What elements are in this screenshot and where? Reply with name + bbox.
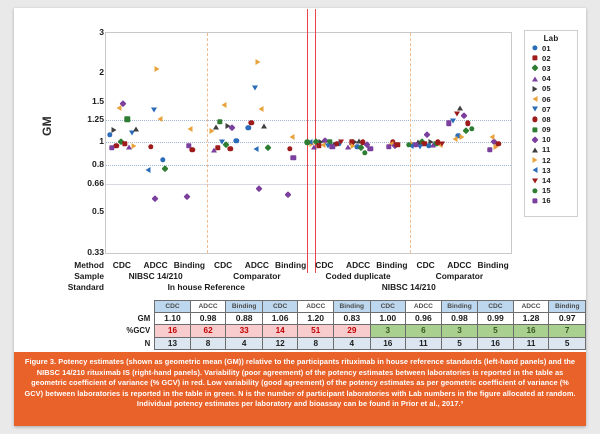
diamond-marker-icon <box>529 135 542 145</box>
panel-divider-dashed <box>207 33 208 253</box>
legend-item-10[interactable]: 10 <box>525 135 577 145</box>
figure-caption: Figure 3. Potency estimates (shown as ge… <box>14 352 586 426</box>
table-cell-gm: 0.88 <box>226 312 262 325</box>
data-point-lab-10 <box>424 132 429 137</box>
table-cell-gm: 0.96 <box>406 312 442 325</box>
data-point-lab-10 <box>152 196 157 201</box>
data-point-lab-10 <box>257 186 262 191</box>
data-point-lab-02 <box>394 142 399 147</box>
legend-label: 16 <box>542 196 551 205</box>
data-point-lab-16 <box>291 155 296 160</box>
table-cell-n: 16 <box>370 337 405 350</box>
data-point-lab-12 <box>460 134 465 140</box>
legend-label: 11 <box>542 145 550 154</box>
data-point-lab-01 <box>160 157 165 162</box>
legend-label: 01 <box>542 44 551 53</box>
legend-label: 04 <box>542 74 551 83</box>
table-cell-n: 8 <box>190 337 226 350</box>
tri-up-marker-icon <box>529 145 542 155</box>
x-group-label: Coded duplicate <box>318 271 398 281</box>
summary-table: CDCADCCBindingCDCADCCBindingCDCADCCBindi… <box>107 300 586 350</box>
chart-figure: GM 321.51.2510.80.660.50.33 Lab 01020304… <box>14 8 586 348</box>
table-row-label: N <box>107 337 155 350</box>
legend-rows: 01020304050607080910111213141516 <box>525 43 577 206</box>
table-col-header: ADCC <box>513 301 549 313</box>
table-cell-n: 11 <box>406 337 442 350</box>
y-tick-label: 0.33 <box>60 247 104 257</box>
x-group-label: Binding <box>453 260 533 270</box>
data-point-lab-01 <box>245 125 250 130</box>
data-point-lab-16 <box>446 121 451 126</box>
table-row: %GCV1662331451293635167 <box>107 325 586 338</box>
legend-label: 08 <box>542 115 551 124</box>
table-cell-gcv: 3 <box>441 325 477 338</box>
legend-item-14[interactable]: 14 <box>525 175 577 185</box>
data-point-lab-15 <box>469 126 474 131</box>
data-point-lab-10 <box>461 114 466 119</box>
data-point-lab-03 <box>163 166 168 171</box>
circle-marker-icon <box>529 43 542 53</box>
legend-label: 09 <box>542 125 551 134</box>
table-col-header: Binding <box>334 301 370 313</box>
table-cell-n: 11 <box>513 337 549 350</box>
data-point-lab-06 <box>490 134 495 140</box>
data-point-lab-08 <box>227 146 232 151</box>
figure-screenshot: GM 321.51.2510.80.660.50.33 Lab 01020304… <box>0 0 600 434</box>
table-cell-gcv: 16 <box>155 325 190 338</box>
table-row-label: %GCV <box>107 325 155 338</box>
data-point-lab-03 <box>265 145 270 150</box>
data-point-lab-04 <box>211 147 217 152</box>
data-point-lab-16 <box>413 142 418 147</box>
legend-item-11[interactable]: 11 <box>525 145 577 155</box>
data-point-lab-08 <box>190 147 195 152</box>
table-cell-n: 8 <box>298 337 334 350</box>
table-cell-gcv: 29 <box>334 325 370 338</box>
table-cell-gm: 1.28 <box>513 312 549 325</box>
y-tick-label: 0.8 <box>60 159 104 169</box>
table-col-header: Binding <box>226 301 262 313</box>
table-cell-n: 4 <box>334 337 370 350</box>
table-col-header: CDC <box>262 301 297 313</box>
legend-item-13[interactable]: 13 <box>525 165 577 175</box>
data-point-lab-10 <box>285 192 290 197</box>
legend-label: 02 <box>542 54 551 63</box>
y-tick-label: 1.5 <box>60 96 104 106</box>
table-cell-gcv: 16 <box>513 325 549 338</box>
table-cell-gcv: 3 <box>370 325 405 338</box>
data-point-lab-10 <box>184 194 189 199</box>
table-col-header: Binding <box>549 301 586 313</box>
table-col-header: CDC <box>478 301 513 313</box>
table-cell-gcv: 62 <box>190 325 226 338</box>
legend-item-06[interactable]: 06 <box>525 94 577 104</box>
data-point-lab-12 <box>209 128 214 134</box>
square-marker-icon <box>529 125 542 135</box>
table-cell-n: 5 <box>549 337 586 350</box>
legend-label: 07 <box>542 105 551 114</box>
legend-label: 14 <box>542 176 551 185</box>
tri-down-marker-icon <box>529 104 542 114</box>
tri-left-marker-icon <box>529 94 542 104</box>
table-col-header: ADCC <box>406 301 442 313</box>
y-axis-title: GM <box>40 116 54 136</box>
legend-item-12[interactable]: 12 <box>525 155 577 165</box>
data-point-lab-16 <box>368 146 373 151</box>
legend-item-02[interactable]: 02 <box>525 53 577 63</box>
data-point-lab-12 <box>351 143 356 149</box>
data-point-lab-13 <box>254 146 259 152</box>
table-cell-gcv: 5 <box>478 325 513 338</box>
table-col-header: ADCC <box>190 301 226 313</box>
legend-item-07[interactable]: 07 <box>525 104 577 114</box>
data-point-lab-01 <box>107 132 112 137</box>
table-cell-gcv: 7 <box>549 325 586 338</box>
table-cell-gcv: 33 <box>226 325 262 338</box>
data-point-lab-06 <box>157 116 162 122</box>
legend-item-05[interactable]: 05 <box>525 84 577 94</box>
data-point-lab-10 <box>230 125 235 130</box>
circle-marker-icon <box>529 114 542 124</box>
legend-label: 06 <box>542 95 551 104</box>
data-point-lab-06 <box>259 106 264 112</box>
table-cell-gm: 0.98 <box>190 312 226 325</box>
legend-item-09[interactable]: 09 <box>525 125 577 135</box>
diamond-marker-icon <box>529 63 542 73</box>
x-group-label: NIBSC 14/210 <box>116 271 196 281</box>
table-cell-n: 16 <box>478 337 513 350</box>
y-axis-ticks: 321.51.2510.80.660.50.33 <box>54 8 104 268</box>
data-point-lab-06 <box>452 136 457 142</box>
data-point-lab-11 <box>261 124 267 129</box>
tri-down-marker-icon <box>529 176 542 186</box>
data-point-lab-12 <box>154 66 159 72</box>
data-point-lab-14 <box>454 112 460 117</box>
tri-right-marker-icon <box>529 84 542 94</box>
data-point-lab-09 <box>124 117 129 122</box>
table-cell-gm: 1.20 <box>298 312 334 325</box>
square-marker-icon <box>529 53 542 63</box>
stats-table: CDCADCCBindingCDCADCCBindingCDCADCCBindi… <box>107 300 586 350</box>
legend-title: Lab <box>525 34 577 43</box>
legend-item-08[interactable]: 08 <box>525 114 577 124</box>
data-point-lab-16 <box>109 145 114 150</box>
x-row-name: Standard <box>48 282 104 292</box>
tri-left-marker-icon <box>529 165 542 175</box>
data-point-lab-12 <box>255 59 260 65</box>
table-cell-gm: 1.10 <box>155 312 190 325</box>
table-row: N138412841611516115 <box>107 337 586 350</box>
x-group-label: NIBSC 14/210 <box>369 282 449 292</box>
legend-label: 05 <box>542 84 551 93</box>
y-tick-label: 3 <box>60 27 104 37</box>
y-tick-label: 1.25 <box>60 114 104 124</box>
x-group-label: Comparator <box>217 271 297 281</box>
data-point-lab-14 <box>439 141 445 146</box>
legend-label: 10 <box>542 135 551 144</box>
data-point-lab-16 <box>386 144 391 149</box>
table-cell-gm: 0.99 <box>478 312 513 325</box>
data-point-lab-13 <box>145 167 150 173</box>
data-point-lab-08 <box>287 146 292 151</box>
table-cell-n: 4 <box>226 337 262 350</box>
legend-label: 03 <box>542 64 551 73</box>
table-col-header: ADCC <box>298 301 334 313</box>
data-point-lab-15 <box>305 140 310 145</box>
data-point-lab-11 <box>133 127 139 132</box>
legend-item-01[interactable]: 01 <box>525 43 577 53</box>
data-point-lab-07 <box>151 108 157 113</box>
y-tick-label: 0.66 <box>60 178 104 188</box>
table-cell-gm: 1.00 <box>370 312 405 325</box>
table-cell-gcv: 6 <box>406 325 442 338</box>
data-point-lab-15 <box>406 142 411 147</box>
data-point-lab-06 <box>188 126 193 132</box>
table-cell-gcv: 51 <box>298 325 334 338</box>
table-cell-gm: 0.83 <box>334 312 370 325</box>
table-row-label: GM <box>107 312 155 325</box>
x-group-label: In house Reference <box>166 282 246 292</box>
gridline <box>106 184 511 185</box>
data-point-lab-06 <box>116 105 121 111</box>
legend-label: 12 <box>542 156 551 165</box>
x-label-row-sample: SampleNIBSC 14/210ComparatorCoded duplic… <box>14 271 586 282</box>
tri-up-marker-icon <box>529 74 542 84</box>
data-point-lab-04 <box>345 144 351 149</box>
data-point-lab-06 <box>289 134 294 140</box>
table-cell-n: 5 <box>441 337 477 350</box>
table-corner-cell <box>107 301 155 313</box>
legend-item-04[interactable]: 04 <box>525 74 577 84</box>
legend-item-03[interactable]: 03 <box>525 63 577 73</box>
table-cell-n: 13 <box>155 337 190 350</box>
data-point-lab-11 <box>457 105 463 110</box>
data-point-lab-08 <box>148 144 153 149</box>
circle-marker-icon <box>529 186 542 196</box>
table-col-header: CDC <box>370 301 405 313</box>
x-axis-group-labels: MethodCDCADCCBindingCDCADCCBindingCDCADC… <box>14 260 586 296</box>
table-col-header: CDC <box>155 301 190 313</box>
legend-label: 15 <box>542 186 551 195</box>
legend-item-16[interactable]: 16 <box>525 196 577 206</box>
table-cell-gm: 1.06 <box>262 312 297 325</box>
table-cell-gm: 0.97 <box>549 312 586 325</box>
x-group-label: Comparator <box>419 271 499 281</box>
tri-right-marker-icon <box>529 155 542 165</box>
y-tick-label: 2 <box>60 67 104 77</box>
table-col-header: Binding <box>441 301 477 313</box>
y-tick-label: 1 <box>60 136 104 146</box>
y-tick-label: 0.5 <box>60 206 104 216</box>
x-label-row-standard: StandardIn house ReferenceNIBSC 14/210 <box>14 282 586 293</box>
table-cell-n: 12 <box>262 337 297 350</box>
legend-label: 13 <box>542 166 551 175</box>
data-point-lab-12 <box>131 143 136 149</box>
plot-area <box>105 32 512 254</box>
table-header-row: CDCADCCBindingCDCADCCBindingCDCADCCBindi… <box>107 301 586 313</box>
x-label-row-method: MethodCDCADCCBindingCDCADCCBindingCDCADC… <box>14 260 586 271</box>
data-point-lab-15 <box>362 150 367 155</box>
table-cell-gcv: 14 <box>262 325 297 338</box>
data-point-lab-08 <box>496 141 501 146</box>
data-point-lab-06 <box>222 102 227 108</box>
table-cell-gm: 0.98 <box>441 312 477 325</box>
data-point-lab-14 <box>338 139 344 144</box>
table-row: GM1.100.980.881.061.200.831.000.960.980.… <box>107 312 586 325</box>
x-row-name: Sample <box>48 271 104 281</box>
data-point-lab-01 <box>234 138 239 143</box>
legend-box: Lab 01020304050607080910111213141516 <box>524 30 578 217</box>
square-marker-icon <box>529 196 542 206</box>
data-point-lab-07 <box>252 86 258 91</box>
legend-item-15[interactable]: 15 <box>525 186 577 196</box>
data-point-lab-03 <box>463 129 468 134</box>
data-point-lab-16 <box>487 147 492 152</box>
